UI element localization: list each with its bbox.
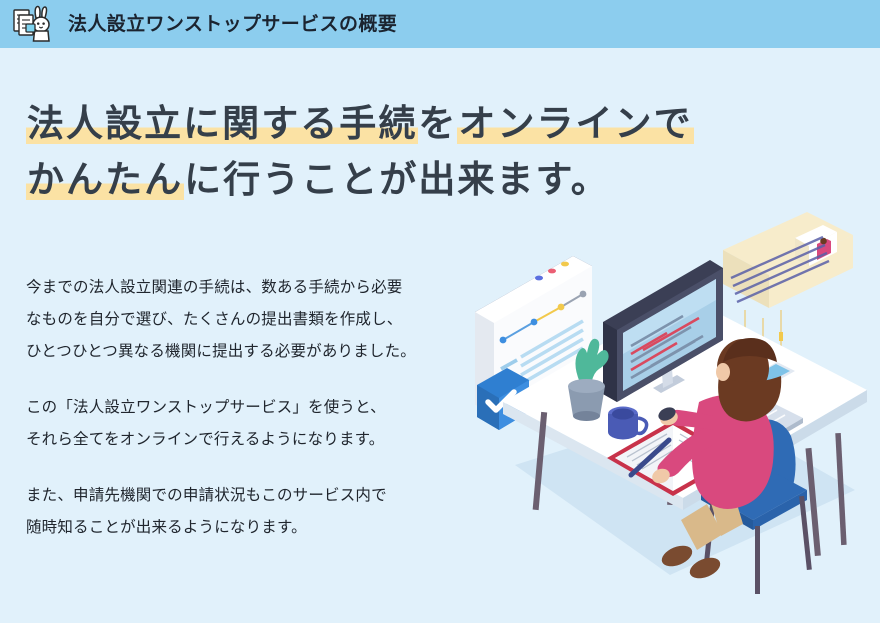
paragraph-line: なものを自分で選び、たくさんの提出書類を作成し、 [26,304,476,336]
slide-page: 法人設立ワンストップサービスの概要 法人設立に関する手続をオンラインで かんたん… [0,0,880,623]
paragraph-current-process: 今までの法人設立関連の手続は、数ある手続から必要 なものを自分で選び、たくさんの… [26,272,476,368]
page-header: 法人設立ワンストップサービスの概要 [0,0,880,48]
heading-highlight-3: かんたん [26,159,184,200]
paragraph-line: また、申請先機関での申請状況もこのサービス内で [26,480,476,512]
heading-plain-1: を [418,103,457,144]
paragraph-line: 随時知ることが出来るようになります。 [26,512,476,544]
body-copy: 今までの法人設立関連の手続は、数ある手続から必要 なものを自分で選び、たくさんの… [26,272,476,543]
paragraph-line: それら全てをオンラインで行えるようになります。 [26,424,476,456]
page-title: 法人設立ワンストップサービスの概要 [68,15,397,34]
heading-highlight-1: 法人設立に関する手続 [26,103,418,144]
paragraph-line: ひとつひとつ異なる機関に提出する必要がありました。 [26,336,476,368]
isometric-desk-workspace-illustration [455,190,880,610]
heading-highlight-2: オンラインで [457,103,693,144]
paragraph-line: この「法人設立ワンストップサービス」を使うと、 [26,392,476,424]
heading-line-1: 法人設立に関する手続をオンラインで [26,96,746,152]
rabbit-mascot-icon [12,4,58,44]
paragraph-status-tracking: また、申請先機関での申請状況もこのサービス内で 随時知ることが出来るようになりま… [26,480,476,544]
paragraph-one-stop-benefit: この「法人設立ワンストップサービス」を使うと、 それら全てをオンラインで行えるよ… [26,392,476,456]
paragraph-line: 今までの法人設立関連の手続は、数ある手続から必要 [26,272,476,304]
